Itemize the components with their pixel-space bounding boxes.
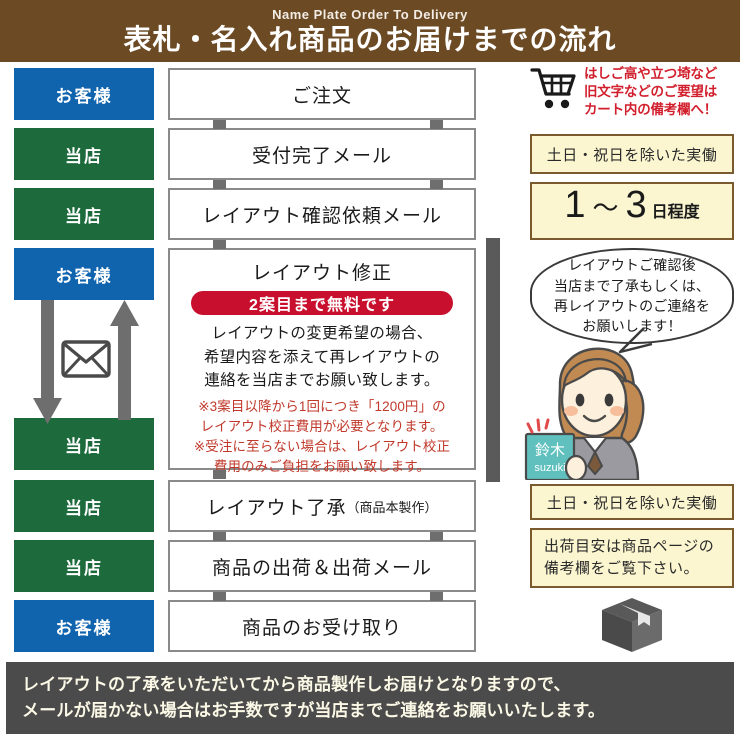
role-chip-shop-shipping: 当店: [14, 540, 154, 592]
cart-notice: はしご高や立つ埼など 旧文字などのご要望は カート内の備考欄へ！: [528, 64, 736, 124]
leadtime-bottom-caption-box: 土日・祝日を除いた実働: [530, 484, 734, 520]
leadtime-days-from: 1: [564, 184, 585, 227]
revision-note-line: ※受注に至らない場合は、レイアウト校正: [194, 437, 450, 457]
page-title: 表札・名入れ商品のお届けまでの流れ: [123, 25, 616, 54]
step-box-receive-product[interactable]: 商品のお受け取り: [168, 600, 476, 652]
leadtime-bottom-note-line: 備考欄をご覧下さい。: [544, 558, 699, 581]
connector-tab: [430, 532, 443, 541]
leadtime-days-unit: 日程度: [652, 198, 700, 222]
footer-line-2: メールが届かない場合はお手数ですが当店までご連絡をお願いいたします。: [22, 698, 734, 724]
step-label: レイアウト確認依頼メール: [202, 201, 442, 228]
revision-note-line: ※3案目以降から1回につき「1200円」の: [194, 397, 450, 417]
header-english-subtitle: Name Plate Order To Delivery: [272, 8, 468, 21]
connector-tab: [213, 470, 226, 479]
step-sublabel: （商品本製作）: [347, 497, 438, 516]
connector-tab: [430, 120, 443, 129]
bubble-line: 再レイアウトのご連絡を: [554, 296, 710, 316]
leadtime-top-caption-box: 土日・祝日を除いた実働: [530, 134, 734, 174]
step-label: 商品のお受け取り: [242, 613, 402, 640]
role-label: 当店: [65, 554, 103, 579]
role-chip-shop-receipt: 当店: [14, 128, 154, 180]
connector-tab: [213, 180, 226, 189]
role-label: 当店: [65, 142, 103, 167]
leadtime-days-to: 3: [626, 184, 647, 227]
step-label: ご注文: [292, 81, 352, 108]
step-label: 受付完了メール: [252, 141, 392, 168]
step-box-receipt-mail[interactable]: 受付完了メール: [168, 128, 476, 180]
flow-diagram-page: Name Plate Order To Delivery 表札・名入れ商品のお届…: [0, 0, 740, 740]
connector-tab: [430, 180, 443, 189]
role-chip-shop-layout-request: 当店: [14, 188, 154, 240]
step-label: レイアウト了承: [206, 493, 346, 520]
leadtime-bottom-note-box: 出荷目安は商品ページの 備考欄をご覧下さい。: [530, 528, 734, 588]
connector-tab: [213, 532, 226, 541]
bypass-connector-line: [486, 238, 500, 482]
connector-tab: [213, 592, 226, 601]
step-box-layout-revision[interactable]: レイアウト修正 2案目まで無料です レイアウトの変更希望の場合、 希望内容を添え…: [168, 248, 476, 470]
connector-tab: [430, 592, 443, 601]
connector-tab: [213, 240, 226, 249]
cart-notice-text: はしご高や立つ埼など 旧文字などのご要望は カート内の備考欄へ！: [584, 65, 717, 119]
envelope-icon: [63, 342, 109, 376]
step-box-shipping-mail[interactable]: 商品の出荷＆出荷メール: [168, 540, 476, 592]
plate-romaji-text: suzuki: [534, 462, 565, 474]
leadtime-bottom-caption: 土日・祝日を除いた実働: [547, 492, 718, 513]
role-label: お客様: [56, 614, 113, 639]
arrow-up-icon: [110, 300, 139, 420]
step-box-layout-request-mail[interactable]: レイアウト確認依頼メール: [168, 188, 476, 240]
shopping-cart-icon: [528, 64, 580, 114]
revision-body-line: レイアウトの変更希望の場合、: [204, 322, 440, 346]
revision-body-line: 希望内容を添えて再レイアウトの: [204, 346, 440, 370]
role-label: お客様: [56, 82, 113, 107]
role-chip-customer-receive: お客様: [14, 600, 154, 652]
leadtime-top-days-box: 1 ～ 3 日程度: [530, 182, 734, 240]
plate-kanji-text: 鈴木: [535, 442, 565, 459]
revision-title: レイアウト修正: [252, 258, 392, 285]
cart-notice-line: はしご高や立つ埼など: [584, 65, 717, 83]
leadtime-bottom-note-line: 出荷目安は商品ページの: [544, 536, 714, 559]
page-footer-banner: レイアウトの了承をいただいてから商品製作しお届けとなりますので、 メールが届かな…: [6, 662, 734, 734]
arrow-down-icon: [33, 300, 62, 424]
page-header-banner: Name Plate Order To Delivery 表札・名入れ商品のお届…: [0, 0, 740, 62]
bubble-line: 当店まで了承もしくは、: [554, 276, 710, 296]
step-box-order[interactable]: ご注文: [168, 68, 476, 120]
revision-note-line: 費用のみご負担をお願い致します。: [194, 457, 450, 477]
revision-note-line: レイアウト校正費用が必要となります。: [194, 417, 450, 437]
staff-character-illustration: 鈴木 suzuki: [524, 318, 736, 480]
step-label: 商品の出荷＆出荷メール: [212, 553, 432, 580]
leadtime-tilde: ～: [592, 188, 618, 225]
role-label: 当店: [65, 202, 103, 227]
role-label: お客様: [56, 262, 113, 287]
role-label: 当店: [65, 432, 103, 457]
revision-note: ※3案目以降から1回につき「1200円」の レイアウト校正費用が必要となります。…: [194, 397, 450, 478]
revision-body-line: 連絡を当店までお願い致します。: [204, 369, 440, 393]
role-label: 当店: [65, 494, 103, 519]
footer-line-1: レイアウトの了承をいただいてから商品製作しお届けとなりますので、: [22, 672, 734, 698]
bubble-line: レイアウトご確認後: [568, 255, 696, 275]
role-chip-shop-revision-reply: 当店: [14, 418, 154, 470]
role-chip-shop-approval: 当店: [14, 480, 154, 532]
revision-free-badge: 2案目まで無料です: [191, 291, 453, 315]
connector-tab: [213, 120, 226, 129]
revision-body: レイアウトの変更希望の場合、 希望内容を添えて再レイアウトの 連絡を当店までお願…: [204, 322, 440, 393]
cart-notice-line: 旧文字などのご要望は: [584, 83, 717, 101]
role-chip-customer-revision: お客様: [14, 248, 154, 300]
package-box-icon: [600, 596, 664, 654]
role-chip-customer-order: お客様: [14, 68, 154, 120]
step-box-layout-approval[interactable]: レイアウト了承（商品本製作）: [168, 480, 476, 532]
leadtime-caption: 土日・祝日を除いた実働: [547, 144, 718, 165]
cart-notice-line: カート内の備考欄へ！: [584, 101, 717, 119]
